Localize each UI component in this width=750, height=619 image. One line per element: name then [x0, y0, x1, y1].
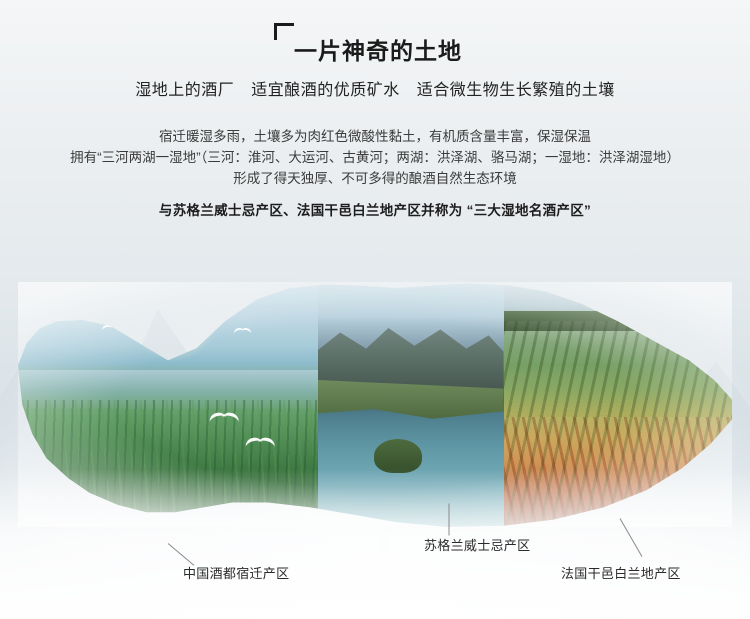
page-title: 一片神奇的土地: [288, 32, 462, 66]
subheadline-item-1: 适宜酿酒的优质矿水: [251, 82, 400, 99]
body-line-2: 形成了得天独厚、不可多得的酿酒自然生态环境: [0, 168, 750, 189]
bird-icon: [234, 324, 252, 333]
callout-label-france: 法国干邑白兰地产区: [561, 563, 681, 582]
subheadline-item-0: 湿地上的酒厂: [135, 82, 234, 99]
bird-icon: [102, 321, 120, 330]
headline-container: 一片神奇的土地: [0, 32, 750, 66]
leader-line-scotland: [449, 504, 450, 536]
bird-icon: [210, 406, 241, 421]
body-line-0: 宿迁暖湿多雨，土壤多为肉红色微酸性黏土，有机质含量丰富，保湿保温: [0, 126, 750, 147]
bird-icon: [246, 431, 277, 446]
scotland-mountain-ridge: [318, 316, 504, 390]
corner-bracket-icon: [274, 23, 294, 40]
scotland-island: [374, 439, 422, 473]
bird-icon: [207, 304, 225, 313]
callout-label-scotland: 苏格兰威士忌产区: [424, 535, 530, 554]
bottle-photo-montage: [18, 282, 732, 527]
callout-label-china: 中国酒都宿迁产区: [183, 563, 289, 582]
page-root: 一片神奇的土地 湿地上的酒厂 适宜酿酒的优质矿水 适合微生物生长繁殖的土壤 宿迁…: [0, 0, 750, 619]
bird-icon: [174, 316, 192, 325]
photo-panel-scotland: [318, 282, 504, 527]
subheadline: 湿地上的酒厂 适宜酿酒的优质矿水 适合微生物生长繁殖的土壤: [0, 76, 750, 100]
body-emphasis: 与苏格兰威士忌产区、法国干邑白兰地产区并称为 “三大湿地名酒产区”: [0, 200, 750, 221]
photo-panel-wetland: [18, 282, 318, 527]
france-farmhouse: [645, 314, 661, 326]
wetland-reeds: [18, 400, 318, 527]
bird-icon: [138, 307, 156, 316]
france-vineyard-rows-lower: [504, 417, 732, 527]
page-title-text: 一片神奇的土地: [294, 38, 462, 64]
body-paragraph: 宿迁暖湿多雨，土壤多为肉红色微酸性黏土，有机质含量丰富，保湿保温 拥有“三河两湖…: [0, 126, 750, 221]
subheadline-item-2: 适合微生物生长繁殖的土壤: [417, 82, 615, 99]
leader-line-france: [620, 518, 643, 557]
photo-panel-france: [504, 282, 732, 527]
body-line-1: 拥有“三河两湖一湿地”（三河：淮河、大运河、古黄河；两湖：洪泽湖、骆马湖；一湿地…: [0, 147, 750, 168]
scotland-shoreline: [318, 380, 504, 434]
